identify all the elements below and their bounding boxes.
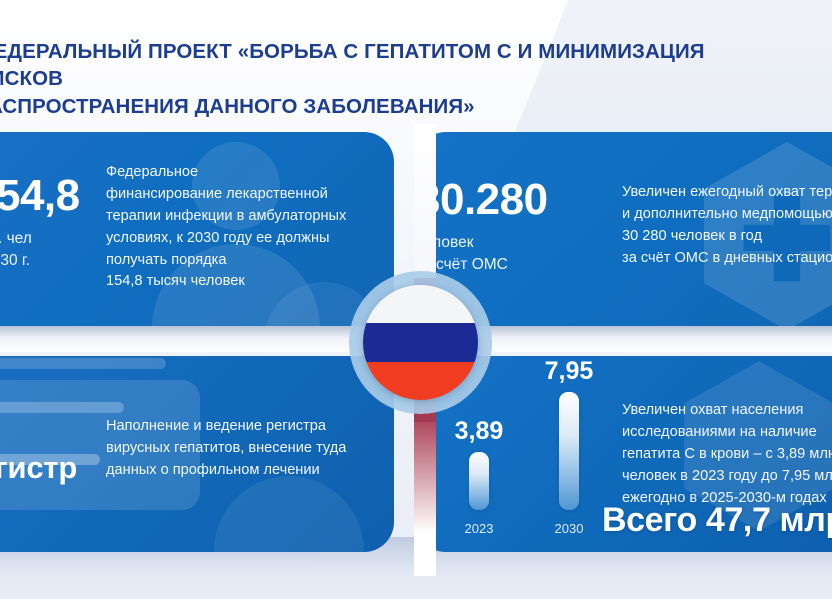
header: ФЕДЕРАЛЬНЫЙ ПРОЕКТ «БОРЬБА С ГЕПАТИТОМ С… xyxy=(0,38,792,120)
bar-2023 xyxy=(469,452,489,510)
bar-label-2023: 2023 xyxy=(442,521,516,536)
infographic-slide: ФЕДЕРАЛЬНЫЙ ПРОЕКТ «БОРЬБА С ГЕПАТИТОМ С… xyxy=(0,0,832,599)
bar-group-2030: 7,95 2030 xyxy=(532,359,606,510)
text-bottom-right: Увеличен охват населения исследованиями … xyxy=(622,400,832,509)
text-top-right: Увеличен ежегодный охват терапией и допо… xyxy=(622,182,832,270)
total-amount: Всего 47,7 млрд руб. xyxy=(602,501,832,540)
bar-label-2030: 2030 xyxy=(532,521,606,536)
stat-top-left: 154,8 тыс. чел к 2030 г. xyxy=(0,174,80,273)
stat-top-left-value: 154,8 xyxy=(0,174,80,218)
text-bottom-left: Наполнение и ведение регистра вирусных г… xyxy=(106,416,426,482)
page-title: ФЕДЕРАЛЬНЫЙ ПРОЕКТ «БОРЬБА С ГЕПАТИТОМ С… xyxy=(0,38,792,120)
stat-top-left-sub: тыс. чел к 2030 г. xyxy=(0,228,80,273)
bar-value-2023: 3,89 xyxy=(442,419,516,444)
registry-label: Регистр xyxy=(0,450,77,486)
bar-value-2030: 7,95 xyxy=(532,359,606,384)
bar-group-2023: 3,89 2023 xyxy=(442,419,516,510)
bar-2030 xyxy=(559,392,579,510)
